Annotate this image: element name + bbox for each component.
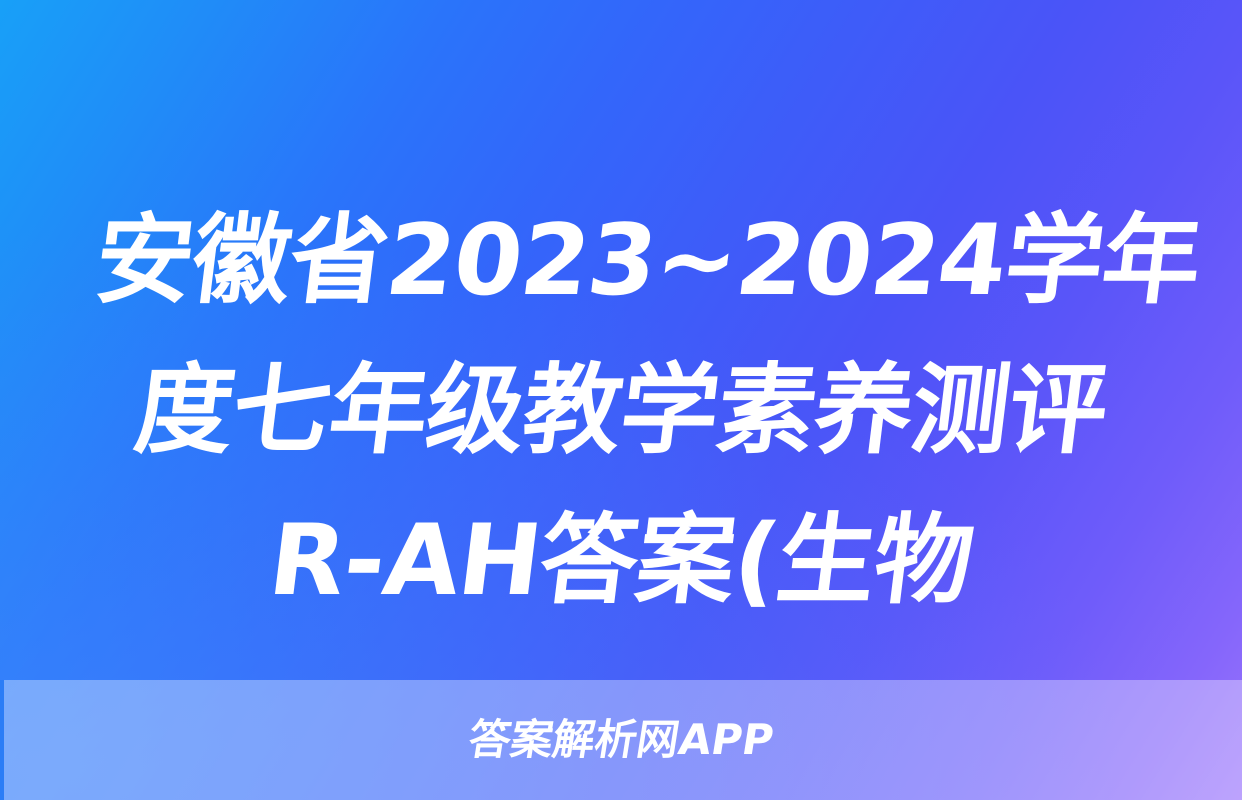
poster-title: 安徽省2023~2024学年 度七年级教学素养测评 R-AH答案(生物 [0,186,1242,636]
watermark-label: 答案解析网APP [466,719,777,761]
title-line-3: R-AH答案(生物 [87,486,1155,636]
title-line-2: 度七年级教学素养测评 [87,336,1155,486]
watermark-band: 答案解析网APP [0,680,1242,800]
title-line-1: 安徽省2023~2024学年 [87,186,1155,336]
footer-left-edge-strip [0,680,4,800]
poster-canvas: 安徽省2023~2024学年 度七年级教学素养测评 R-AH答案(生物 答案解析… [0,0,1242,800]
